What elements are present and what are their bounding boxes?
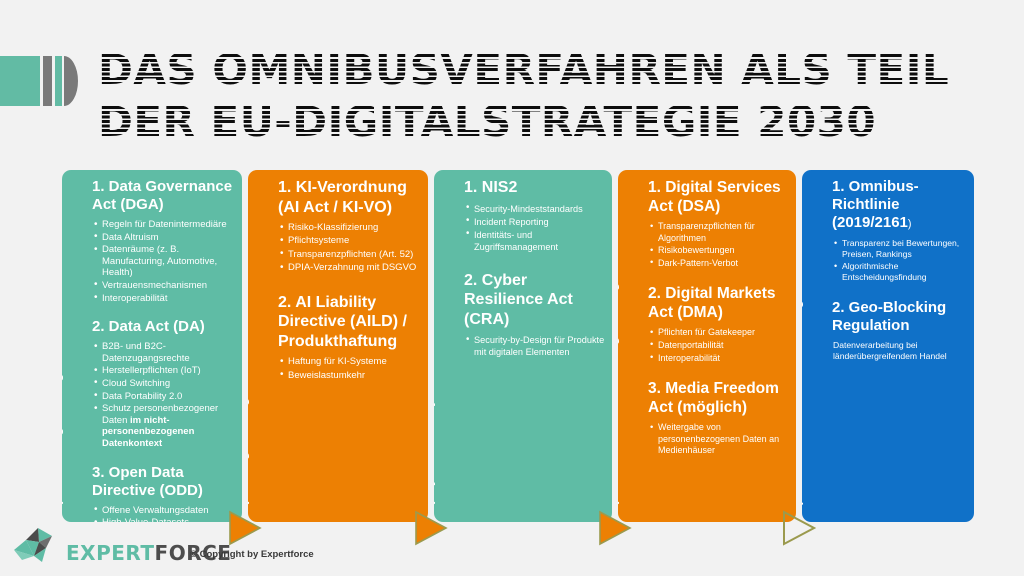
column-c-side-label: C) Cyber Security — [434, 184, 438, 514]
header: DAS OMNIBUSVERFAHREN ALS TEIL DER EU-DIG… — [0, 44, 1024, 160]
list-item: Algorithmische Entscheidungsfindung — [834, 261, 968, 283]
section-mfa-title: 3. Media Freedom Act (möglich) — [648, 379, 790, 417]
section-cra-title: 2. Cyber Resilience Act (CRA) — [464, 271, 606, 330]
list-item: Data Altruism — [94, 232, 236, 244]
section-data-act-bullets: B2B- und B2C- Datenzugangsrechte Herstel… — [94, 341, 236, 449]
list-item-rich: Schutz personenbezogener Daten im nicht-… — [94, 403, 236, 449]
footer: EXPERTFORCE © Copyright by Expertforce — [0, 522, 1024, 576]
section-ki-vo: 1. KI-Verordnung (AI Act / KI-VO) Risiko… — [278, 178, 422, 275]
section-dsa-title: 1. Digital Services Act (DSA) — [648, 178, 790, 216]
list-item: B2B- und B2C- Datenzugangsrechte — [94, 341, 236, 364]
list-item: Herstellerpflichten (IoT) — [94, 365, 236, 377]
list-item: Transparenzpflichten (Art. 52) — [280, 249, 422, 261]
section-aild-title: 2. AI Liability Directive (AILD) / Produ… — [278, 293, 422, 352]
list-item: Transparenzpflichten für Algorithmen — [650, 221, 790, 244]
list-item: Regeln für Datenintermediäre — [94, 219, 236, 231]
section-geo-blocking-note: Datenverarbeitung bei länderübergreifend… — [833, 340, 968, 362]
section-omnibus-title-main: 1. Omnibus-Richtlinie (2019/2161 — [832, 178, 919, 231]
arrow-a-to-b-icon — [228, 508, 262, 548]
section-data-act: 2. Data Act (DA) B2B- und B2C- Datenzuga… — [92, 318, 236, 449]
section-mfa-bullets: Weitergabe von personenbezogenen Daten a… — [650, 422, 790, 457]
list-item: Haftung für KI-Systeme — [280, 356, 422, 368]
section-dga-title: 1. Data Governance Act (DGA) — [92, 178, 236, 214]
column-c-cyber-security[interactable]: C) Cyber Security 1. NIS2 Security-Minde… — [434, 170, 612, 522]
list-item: Interoperabilität — [94, 293, 236, 305]
section-dga-bullets: Regeln für Datenintermediäre Data Altrui… — [94, 219, 236, 304]
section-dma: 2. Digital Markets Act (DMA) Pflichten f… — [648, 284, 790, 364]
column-a-side-label: A) Daten-Regulierung — [62, 184, 66, 514]
list-item: Weitergabe von personenbezogenen Daten a… — [650, 422, 790, 457]
mark-segment-gray — [43, 56, 52, 106]
column-c-body: 1. NIS2 Security-Mindeststandards Incide… — [464, 178, 606, 518]
section-omnibus-title-suffix: ) — [908, 218, 912, 230]
expertforce-bird-icon — [12, 526, 64, 568]
section-omnibus-bullets: Transparenz bei Bewertungen, Preisen, Ra… — [834, 238, 968, 283]
section-cra: 2. Cyber Resilience Act (CRA) Security-b… — [464, 271, 606, 359]
list-item: Interoperabilität — [650, 353, 790, 365]
section-odd: 3. Open Data Directive (ODD) Offene Verw… — [92, 464, 236, 523]
section-geo-blocking-title: 2. Geo-Blocking Regulation — [832, 299, 968, 335]
list-item: Transparenz bei Bewertungen, Preisen, Ra… — [834, 238, 968, 260]
page-title: DAS OMNIBUSVERFAHREN ALS TEIL DER EU-DIG… — [98, 44, 998, 148]
section-odd-bullets: Offene Verwaltungsdaten High-Value-Datas… — [94, 505, 236, 523]
columns-container: A) Daten-Regulierung 1. Data Governance … — [0, 170, 1024, 522]
arrow-c-to-d-icon — [598, 508, 632, 548]
section-ki-vo-bullets: Risiko-Klassifizierung Pflichtsysteme Tr… — [280, 222, 422, 275]
list-item: DPIA-Verzahnung mit DSGVO — [280, 262, 422, 274]
section-nis2: 1. NIS2 Security-Mindeststandards Incide… — [464, 178, 606, 253]
arrow-b-to-c-icon — [414, 508, 448, 548]
list-item: Datenportabilität — [650, 340, 790, 352]
section-dma-title: 2. Digital Markets Act (DMA) — [648, 284, 790, 322]
list-item: Dark-Pattern-Verbot — [650, 258, 790, 270]
column-a-body: 1. Data Governance Act (DGA) Regeln für … — [92, 178, 236, 518]
list-item: Datenräume (z. B. Manufacturing, Automot… — [94, 244, 236, 279]
list-item: Cloud Switching — [94, 378, 236, 390]
title-line-1-text: DAS OMNIBUSVERFAHREN ALS TEIL — [98, 45, 949, 94]
list-item: Risikobewertungen — [650, 245, 790, 257]
copyright-text: © Copyright by Expertforce — [190, 549, 314, 560]
mark-segment-cap — [64, 56, 78, 106]
column-e-side-label: E) Verbraucherrechte & Marktregeln — [802, 184, 806, 514]
column-b-body: 1. KI-Verordnung (AI Act / KI-VO) Risiko… — [278, 178, 422, 518]
section-data-act-title: 2. Data Act (DA) — [92, 318, 236, 336]
list-item: Security-by-Design für Produkte mit digi… — [466, 334, 606, 358]
column-d-side-label: D) Plattform und Markt Regulierung — [618, 184, 622, 514]
section-omnibus-title: 1. Omnibus-Richtlinie (2019/2161) — [832, 178, 968, 233]
list-item: Pflichtsysteme — [280, 235, 422, 247]
section-dga: 1. Data Governance Act (DGA) Regeln für … — [92, 178, 236, 304]
list-item: Security-Mindeststandards — [466, 203, 606, 215]
bookmark-mark-icon — [0, 56, 78, 106]
section-geo-blocking: 2. Geo-Blocking Regulation Datenverarbei… — [832, 299, 968, 362]
section-dma-bullets: Pflichten für Gatekeeper Datenportabilit… — [650, 327, 790, 364]
list-item: Beweislastumkehr — [280, 370, 422, 382]
section-nis2-bullets: Security-Mindeststandards Incident Repor… — [466, 203, 606, 253]
title-line-2: DER EU-DIGITALSTRATEGIE 2030 — [98, 96, 998, 148]
arrow-d-to-e-icon — [782, 508, 816, 548]
column-b-ki-regulierung[interactable]: B) KI-Regulierung 1. KI-Verordnung (AI A… — [248, 170, 428, 522]
section-ki-vo-title: 1. KI-Verordnung (AI Act / KI-VO) — [278, 178, 422, 217]
column-a-daten-regulierung[interactable]: A) Daten-Regulierung 1. Data Governance … — [62, 170, 242, 522]
column-d-plattform-markt[interactable]: D) Plattform und Markt Regulierung 1. Di… — [618, 170, 796, 522]
list-item: Risiko-Klassifizierung — [280, 222, 422, 234]
logo-expert: EXPERT — [66, 541, 155, 565]
list-item: Identitäts- und Zugriffsmanagement — [466, 229, 606, 253]
mark-segment-teal — [0, 56, 40, 106]
section-dsa: 1. Digital Services Act (DSA) Transparen… — [648, 178, 790, 269]
section-mfa: 3. Media Freedom Act (möglich) Weitergab… — [648, 379, 790, 457]
section-aild: 2. AI Liability Directive (AILD) / Produ… — [278, 293, 422, 382]
section-aild-bullets: Haftung für KI-Systeme Beweislastumkehr — [280, 356, 422, 382]
section-odd-title: 3. Open Data Directive (ODD) — [92, 464, 236, 500]
list-item: Vertrauensmechanismen — [94, 280, 236, 292]
list-item: Pflichten für Gatekeeper — [650, 327, 790, 339]
column-d-body: 1. Digital Services Act (DSA) Transparen… — [648, 178, 790, 518]
list-item: Data Portability 2.0 — [94, 391, 236, 403]
title-line-2-text: DER EU-DIGITALSTRATEGIE 2030 — [98, 97, 876, 146]
list-item: Incident Reporting — [466, 216, 606, 228]
section-omnibus: 1. Omnibus-Richtlinie (2019/2161) Transp… — [832, 178, 968, 283]
column-b-side-label: B) KI-Regulierung — [248, 184, 252, 514]
title-line-1: DAS OMNIBUSVERFAHREN ALS TEIL — [98, 44, 998, 96]
list-item: Offene Verwaltungsdaten — [94, 505, 236, 517]
infographic-page: DAS OMNIBUSVERFAHREN ALS TEIL DER EU-DIG… — [0, 0, 1024, 576]
column-e-verbraucherrechte[interactable]: E) Verbraucherrechte & Marktregeln 1. Om… — [802, 170, 974, 522]
section-dsa-bullets: Transparenzpflichten für Algorithmen Ris… — [650, 221, 790, 269]
section-nis2-title: 1. NIS2 — [464, 178, 606, 198]
section-cra-bullets: Security-by-Design für Produkte mit digi… — [466, 334, 606, 358]
mark-segment-teal2 — [55, 56, 62, 106]
column-e-body: 1. Omnibus-Richtlinie (2019/2161) Transp… — [832, 178, 968, 518]
